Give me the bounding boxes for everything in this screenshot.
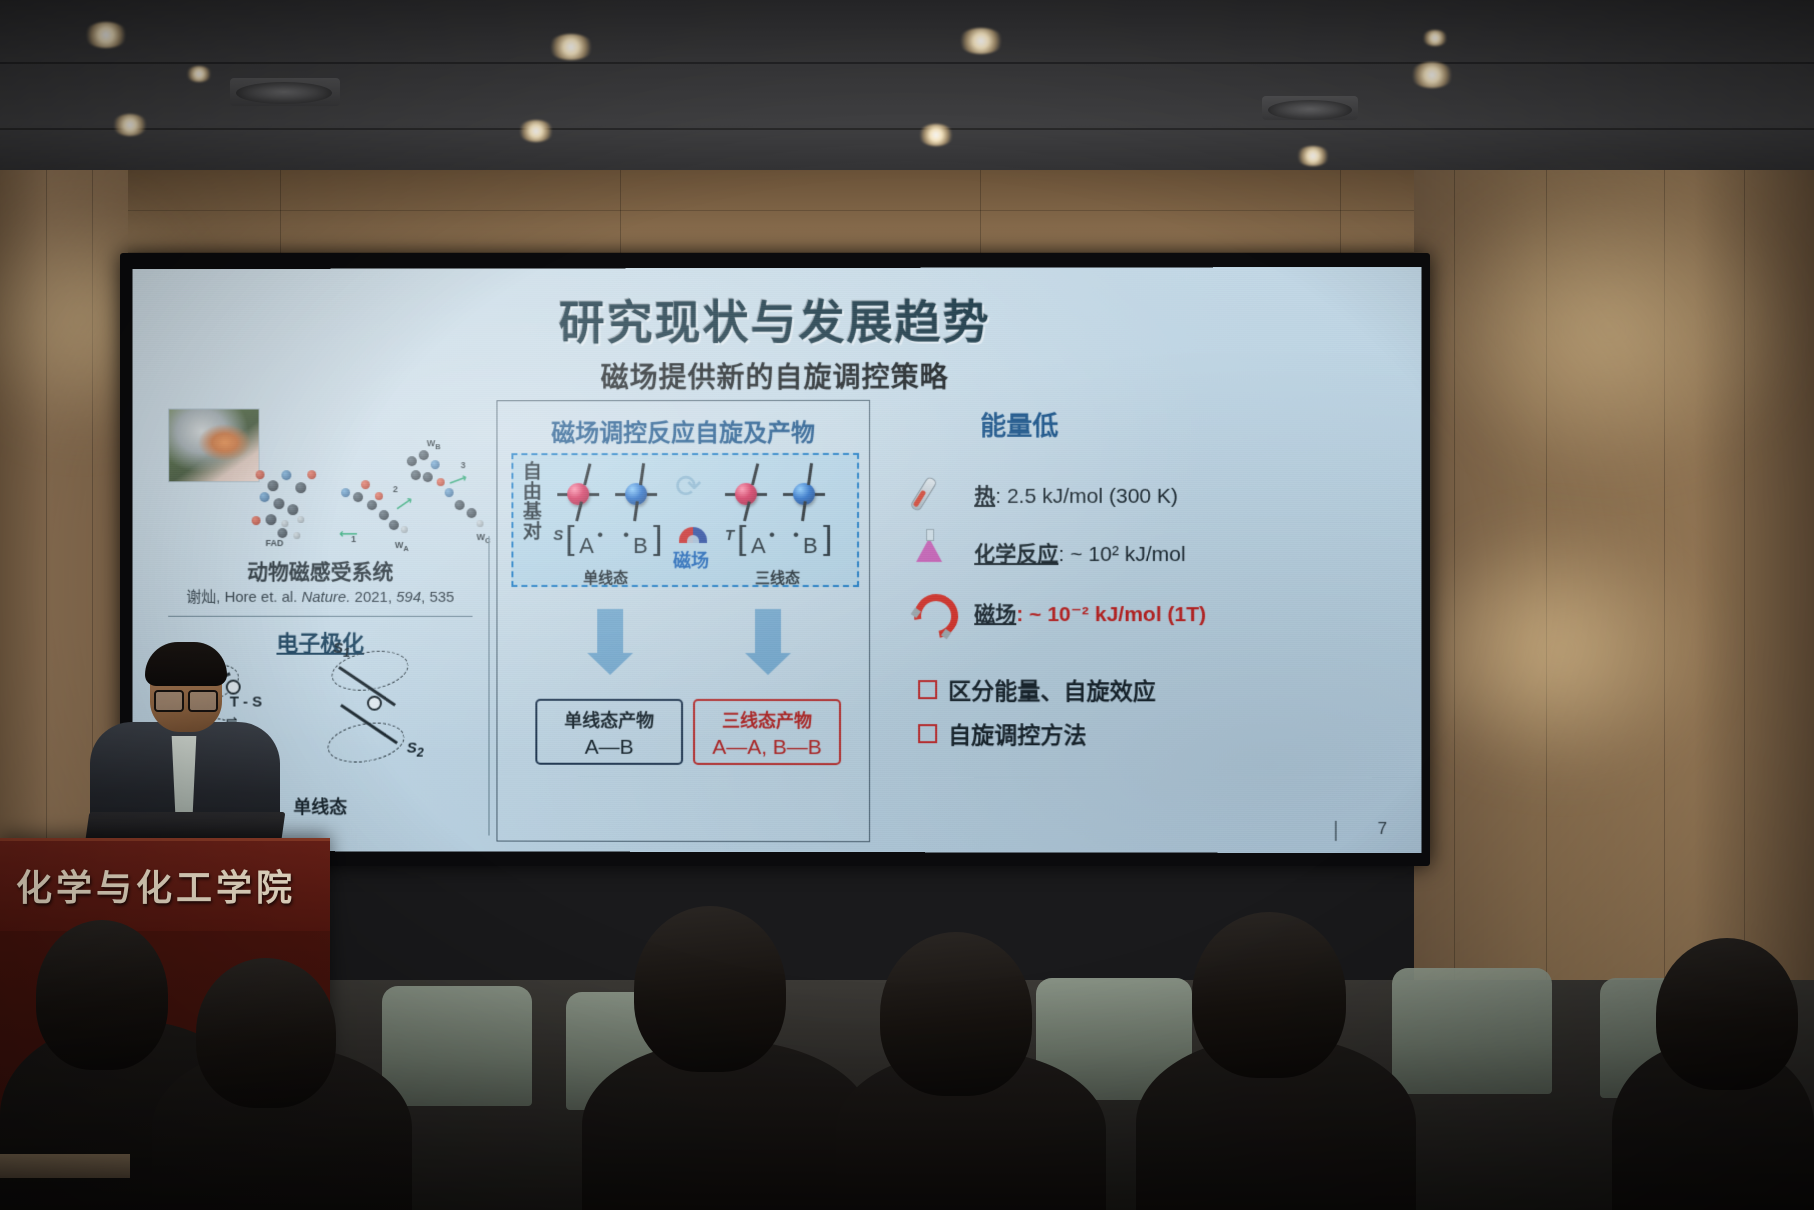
- ceiling-downlight: [518, 120, 554, 142]
- left-divider: [168, 616, 472, 617]
- bullet-text: 自旋调控方法: [948, 716, 1086, 750]
- ceiling-downlight: [1296, 146, 1330, 166]
- magnet-field-label: 磁场: [673, 547, 709, 573]
- page-number-bar: [1335, 821, 1337, 841]
- ceiling-downlight: [186, 66, 212, 82]
- citation-journal: Nature.: [302, 589, 351, 606]
- arrow-number-1: 1: [351, 534, 356, 544]
- energy-row-chemical: 化学反应: ~ 10² kJ/mol: [974, 538, 1185, 568]
- molecule-label-wa: WA: [395, 540, 409, 553]
- presenter-glasses-left: [154, 690, 184, 712]
- bracket-open-right: [: [737, 519, 746, 558]
- radical-dot-right-a: •: [769, 525, 775, 545]
- energy-label-chemical: 化学反应: [974, 543, 1058, 566]
- species-a-right: A: [751, 533, 766, 559]
- bullet-text: 区分能量、自旋效应: [948, 672, 1156, 706]
- triplet-prefix: T: [725, 527, 734, 544]
- ceiling-downlight: [112, 114, 148, 136]
- energy-row-heat: 热: 2.5 kJ/mol (300 K): [974, 480, 1178, 510]
- citation-authors: 谢灿, Hore et. al.: [186, 589, 297, 606]
- handrail: [0, 1154, 130, 1178]
- ceiling-downlight: [548, 34, 594, 60]
- ceiling-downlight: [1422, 30, 1448, 46]
- podium-institution-text: 化学与化工学院: [16, 859, 296, 911]
- molecule-label-wb: WB: [427, 438, 441, 451]
- product-box-triplet: 三线态产物 A—A, B—B: [693, 699, 841, 765]
- citation-page: , 535: [421, 589, 454, 606]
- product-singlet-formula: A—B: [537, 736, 681, 760]
- ceiling-light-recess: [236, 82, 332, 104]
- radical-dot-right-b: •: [793, 525, 799, 545]
- singlet-prefix: S: [553, 527, 563, 544]
- energy-value-chemical: : ~ 10² kJ/mol: [1058, 543, 1185, 566]
- state-label-triplet: 三线态: [755, 567, 800, 588]
- presentation-slide: 研究现状与发展趋势 磁场提供新的自旋调控策略: [132, 267, 1421, 853]
- slide-center-panel: 磁场调控反应自旋及产物 自由基对 ⟳: [496, 400, 870, 842]
- energy-value-heat: : 2.5 kJ/mol (300 K): [995, 485, 1178, 508]
- species-a-left: A: [579, 533, 594, 559]
- chair: [1392, 968, 1552, 1094]
- magnet-icon: [914, 594, 958, 638]
- bird-photo: [168, 408, 259, 482]
- slide-page-number: 7: [1378, 819, 1388, 839]
- conference-hall-photo: 研究现状与发展趋势 磁场提供新的自旋调控策略: [0, 0, 1814, 1210]
- reaction-arrow-3: ⟶: [446, 469, 469, 490]
- ceiling-downlight: [1410, 62, 1454, 88]
- radical-dot-left-b: •: [623, 525, 629, 545]
- thermometer-icon: [918, 476, 929, 512]
- radical-dot-left-a: •: [597, 525, 603, 545]
- ceiling-downlight: [958, 28, 1004, 54]
- reaction-arrow-2: ⟶: [392, 492, 416, 516]
- audience-head: [634, 906, 786, 1072]
- bullet-item: 自旋调控方法: [918, 716, 1156, 750]
- ceiling-downlight: [918, 124, 954, 146]
- energy-row-magnetic: 磁场: ~ 10⁻² kJ/mol (1T): [974, 598, 1206, 628]
- s2-label: S2: [407, 740, 424, 760]
- arrow-number-2: 2: [393, 484, 398, 494]
- presenter-glasses-right: [188, 690, 218, 712]
- figure-citation: 谢灿, Hore et. al. Nature. 2021, 594, 535: [156, 586, 484, 607]
- presenter-hair: [145, 642, 227, 686]
- bracket-close-left: ]: [653, 519, 662, 558]
- molecule-label-fad: FAD: [266, 538, 284, 548]
- bullet-item: 区分能量、自旋效应: [918, 672, 1156, 706]
- product-triplet-formula: A—A, B—B: [695, 736, 839, 760]
- radical-pair-vertical-label: 自由基对: [519, 463, 545, 543]
- bracket-open-left: [: [565, 519, 574, 558]
- species-b-right: B: [803, 533, 818, 559]
- citation-volume: 594: [396, 589, 421, 606]
- center-panel-title: 磁场调控反应自旋及产物: [497, 413, 869, 448]
- flask-icon: [916, 538, 942, 562]
- audience-head: [880, 932, 1032, 1096]
- audience-head: [1192, 912, 1346, 1078]
- ceiling-light-recess: [1268, 100, 1352, 120]
- s1-label: S1: [333, 640, 350, 660]
- figure-caption: 动物磁感受系统: [156, 556, 484, 586]
- bracket-close-right: ]: [823, 519, 832, 558]
- energy-label-magnetic: 磁场: [974, 603, 1016, 626]
- state-label-singlet: 单线态: [583, 567, 628, 588]
- product-triplet-title: 三线态产物: [695, 707, 839, 733]
- audience-head: [1656, 938, 1798, 1090]
- chair: [382, 986, 532, 1106]
- audience-head: [196, 958, 336, 1108]
- product-box-singlet: 单线态产物 A—B: [535, 699, 683, 765]
- interconversion-arrows-icon: ⟳: [675, 467, 702, 505]
- species-b-left: B: [633, 533, 648, 559]
- audience-head: [36, 920, 168, 1070]
- citation-year: 2021,: [355, 589, 392, 606]
- arrow-number-3: 3: [461, 460, 466, 470]
- energy-label-heat: 热: [974, 485, 995, 508]
- ceiling-downlight: [84, 22, 128, 48]
- conclusion-bullets: 区分能量、自旋效应 自旋调控方法: [918, 672, 1156, 760]
- bullet-square-icon: [918, 724, 937, 743]
- slide-title: 研究现状与发展趋势: [132, 285, 1421, 353]
- energy-value-magnetic: : ~ 10⁻² kJ/mol (1T): [1016, 603, 1206, 626]
- bullet-square-icon: [918, 680, 937, 699]
- energy-section-title: 能量低: [980, 406, 1058, 443]
- product-singlet-title: 单线态产物: [537, 707, 681, 733]
- slide-subtitle: 磁场提供新的自旋调控策略: [132, 355, 1421, 396]
